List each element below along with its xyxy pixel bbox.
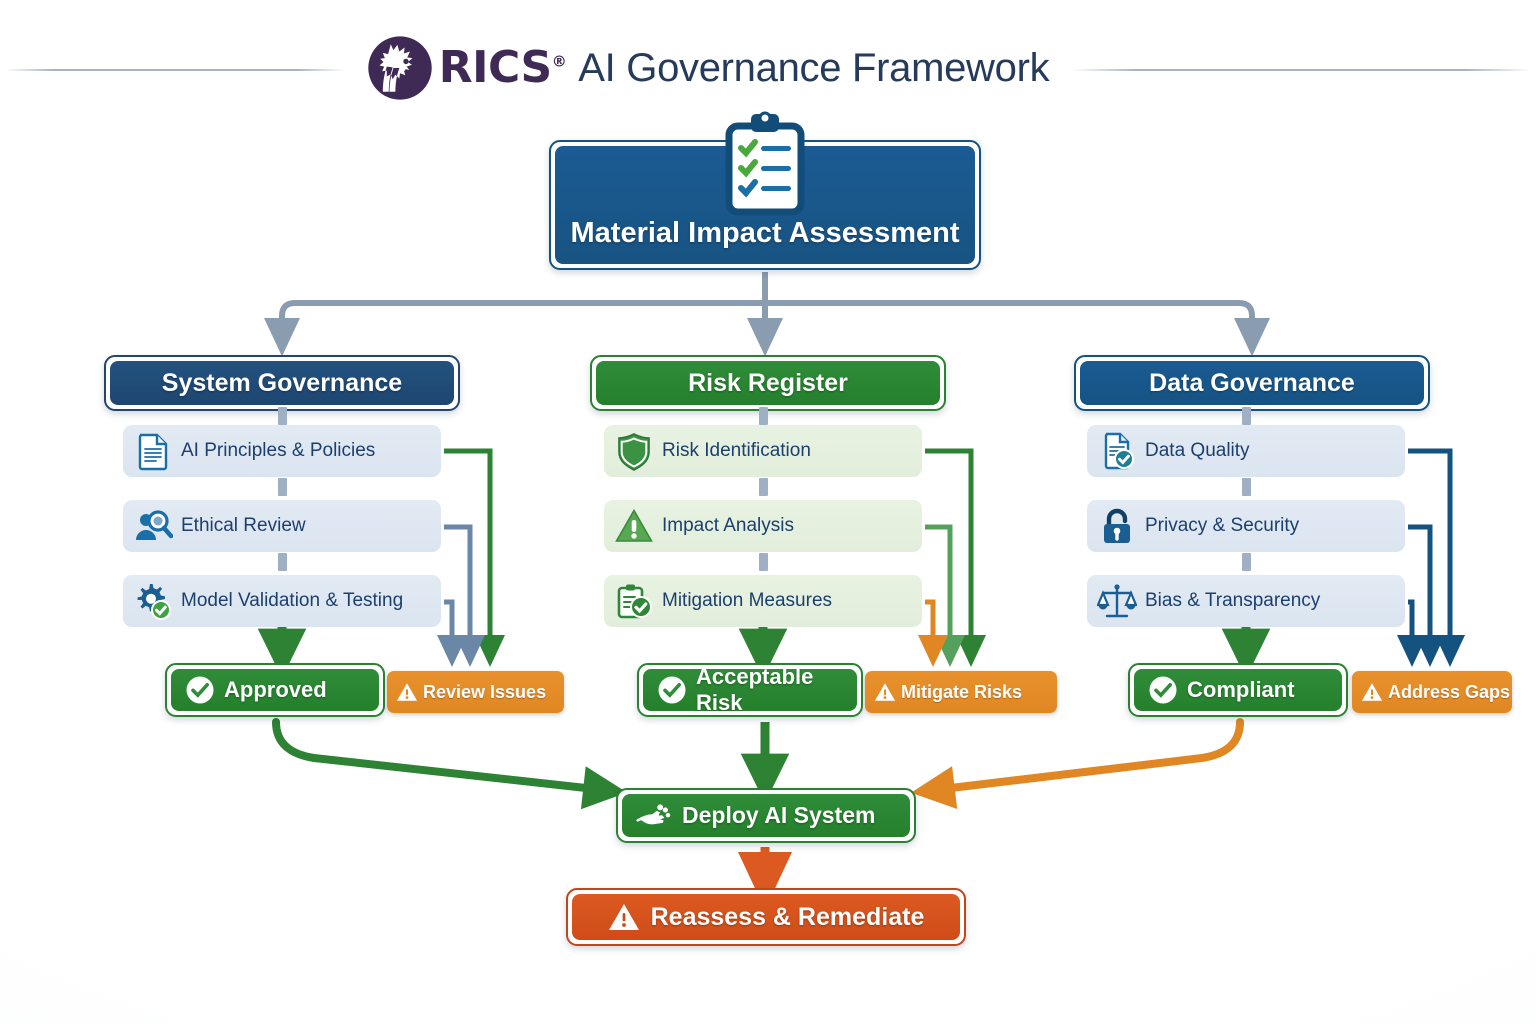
outcome-address-gaps[interactable]: Address Gaps (1352, 671, 1512, 713)
registered-mark: ® (552, 52, 567, 70)
item-label: Ethical Review (181, 515, 306, 537)
outcome-compliant[interactable]: Compliant (1128, 663, 1348, 717)
item-ethical-review[interactable]: Ethical Review (123, 500, 441, 552)
outcome-inner: Approved (171, 669, 379, 711)
padlock-icon (1097, 506, 1137, 546)
item-privacy-security[interactable]: Privacy & Security (1087, 500, 1405, 552)
check-circle-icon (185, 675, 215, 705)
stub-connector (278, 478, 287, 496)
item-mitigation-measures[interactable]: Mitigation Measures (604, 575, 922, 627)
balance-scales-icon (1097, 581, 1137, 621)
col3-branch-wires (1408, 451, 1450, 650)
stub-connector (759, 553, 768, 571)
clipboard-checklist-icon (719, 110, 811, 220)
item-label: Data Quality (1145, 440, 1250, 462)
item-bias-transparency[interactable]: Bias & Transparency (1087, 575, 1405, 627)
stub-connector (278, 553, 287, 571)
page-title: AI Governance Framework (578, 48, 1049, 88)
warning-triangle-icon (614, 506, 654, 546)
outcome-inner: Acceptable Risk (643, 669, 857, 711)
item-label: Mitigation Measures (662, 590, 832, 612)
column-header-label: Data Governance (1149, 369, 1355, 398)
document-lines-icon (133, 431, 173, 471)
warning-triangle-icon (608, 902, 640, 932)
outcome-review-issues[interactable]: Review Issues (387, 671, 564, 713)
col-head-inner: Data Governance (1080, 361, 1424, 405)
deploy-inner: Deploy AI System (622, 794, 910, 837)
item-label: Risk Identification (662, 440, 811, 462)
column-header-data-governance[interactable]: Data Governance (1074, 355, 1430, 411)
rics-wordmark: RICS® (439, 46, 567, 90)
stub-connector (278, 407, 287, 425)
header-rule-right (1071, 69, 1531, 71)
column-header-label: Risk Register (688, 369, 848, 398)
item-data-quality[interactable]: Data Quality (1087, 425, 1405, 477)
diagram-header: RICS® AI Governance Framework (0, 18, 1536, 118)
rics-logo: RICS® AI Governance Framework (367, 35, 1050, 101)
stub-connector (1242, 553, 1251, 571)
node-deploy-ai-system[interactable]: Deploy AI System (616, 788, 916, 843)
header-rule-left (5, 69, 345, 71)
item-ai-principles-policies[interactable]: AI Principles & Policies (123, 425, 441, 477)
item-label: Impact Analysis (662, 515, 794, 537)
fanout-connectors (282, 272, 1252, 336)
rics-word-text: RICS (439, 42, 552, 93)
compliant-to-deploy-connector (934, 722, 1240, 790)
reassess-label: Reassess & Remediate (651, 903, 925, 932)
document-check-icon (1097, 431, 1137, 471)
rics-lion-head-icon (367, 35, 433, 101)
outcome-acceptable-risk[interactable]: Acceptable Risk (637, 663, 863, 717)
clipboard-check-icon (614, 581, 654, 621)
item-risk-identification[interactable]: Risk Identification (604, 425, 922, 477)
outcome-label: Mitigate Risks (901, 682, 1022, 703)
node-reassess-remediate[interactable]: Reassess & Remediate (566, 888, 966, 946)
reassess-inner: Reassess & Remediate (572, 894, 960, 940)
top-node-label: Material Impact Assessment (571, 217, 960, 250)
stub-connector (759, 478, 768, 496)
col-head-inner: Risk Register (596, 361, 940, 405)
node-material-impact-assessment[interactable]: Material Impact Assessment (549, 140, 981, 270)
col1-branch-wires (444, 451, 490, 650)
outcome-label: Review Issues (423, 682, 546, 703)
outcome-approved[interactable]: Approved (165, 663, 385, 717)
warning-triangle-icon (874, 681, 896, 703)
item-model-validation-testing[interactable]: Model Validation & Testing (123, 575, 441, 627)
item-label: Privacy & Security (1145, 515, 1299, 537)
outcome-label: Approved (224, 677, 327, 703)
stub-connector (1242, 407, 1251, 425)
outcome-inner: Compliant (1134, 669, 1342, 711)
gear-check-icon (133, 581, 173, 621)
stub-connector (1242, 478, 1251, 496)
stub-connector (759, 407, 768, 425)
column-header-risk-register[interactable]: Risk Register (590, 355, 946, 411)
col-head-inner: System Governance (110, 361, 454, 405)
check-circle-icon (1148, 675, 1178, 705)
item-label: Model Validation & Testing (181, 590, 403, 612)
outcome-label: Compliant (1187, 677, 1295, 703)
item-impact-analysis[interactable]: Impact Analysis (604, 500, 922, 552)
approved-to-deploy-connector (276, 722, 604, 790)
warning-triangle-icon (396, 681, 418, 703)
person-magnifier-icon (133, 506, 173, 546)
col2-branch-wires (925, 451, 971, 650)
diagram-canvas: RICS® AI Governance Framework (0, 0, 1536, 1024)
outcome-label: Address Gaps (1388, 682, 1510, 703)
check-circle-icon (657, 675, 687, 705)
deploy-label: Deploy AI System (682, 802, 875, 829)
warning-triangle-icon (1361, 681, 1383, 703)
item-label: Bias & Transparency (1145, 590, 1320, 612)
column-header-label: System Governance (162, 369, 402, 398)
column-header-system-governance[interactable]: System Governance (104, 355, 460, 411)
outcome-mitigate-risks[interactable]: Mitigate Risks (865, 671, 1057, 713)
robot-hand-icon (636, 801, 674, 831)
outcome-label: Acceptable Risk (696, 664, 857, 716)
item-label: AI Principles & Policies (181, 440, 375, 462)
shield-icon (614, 431, 654, 471)
